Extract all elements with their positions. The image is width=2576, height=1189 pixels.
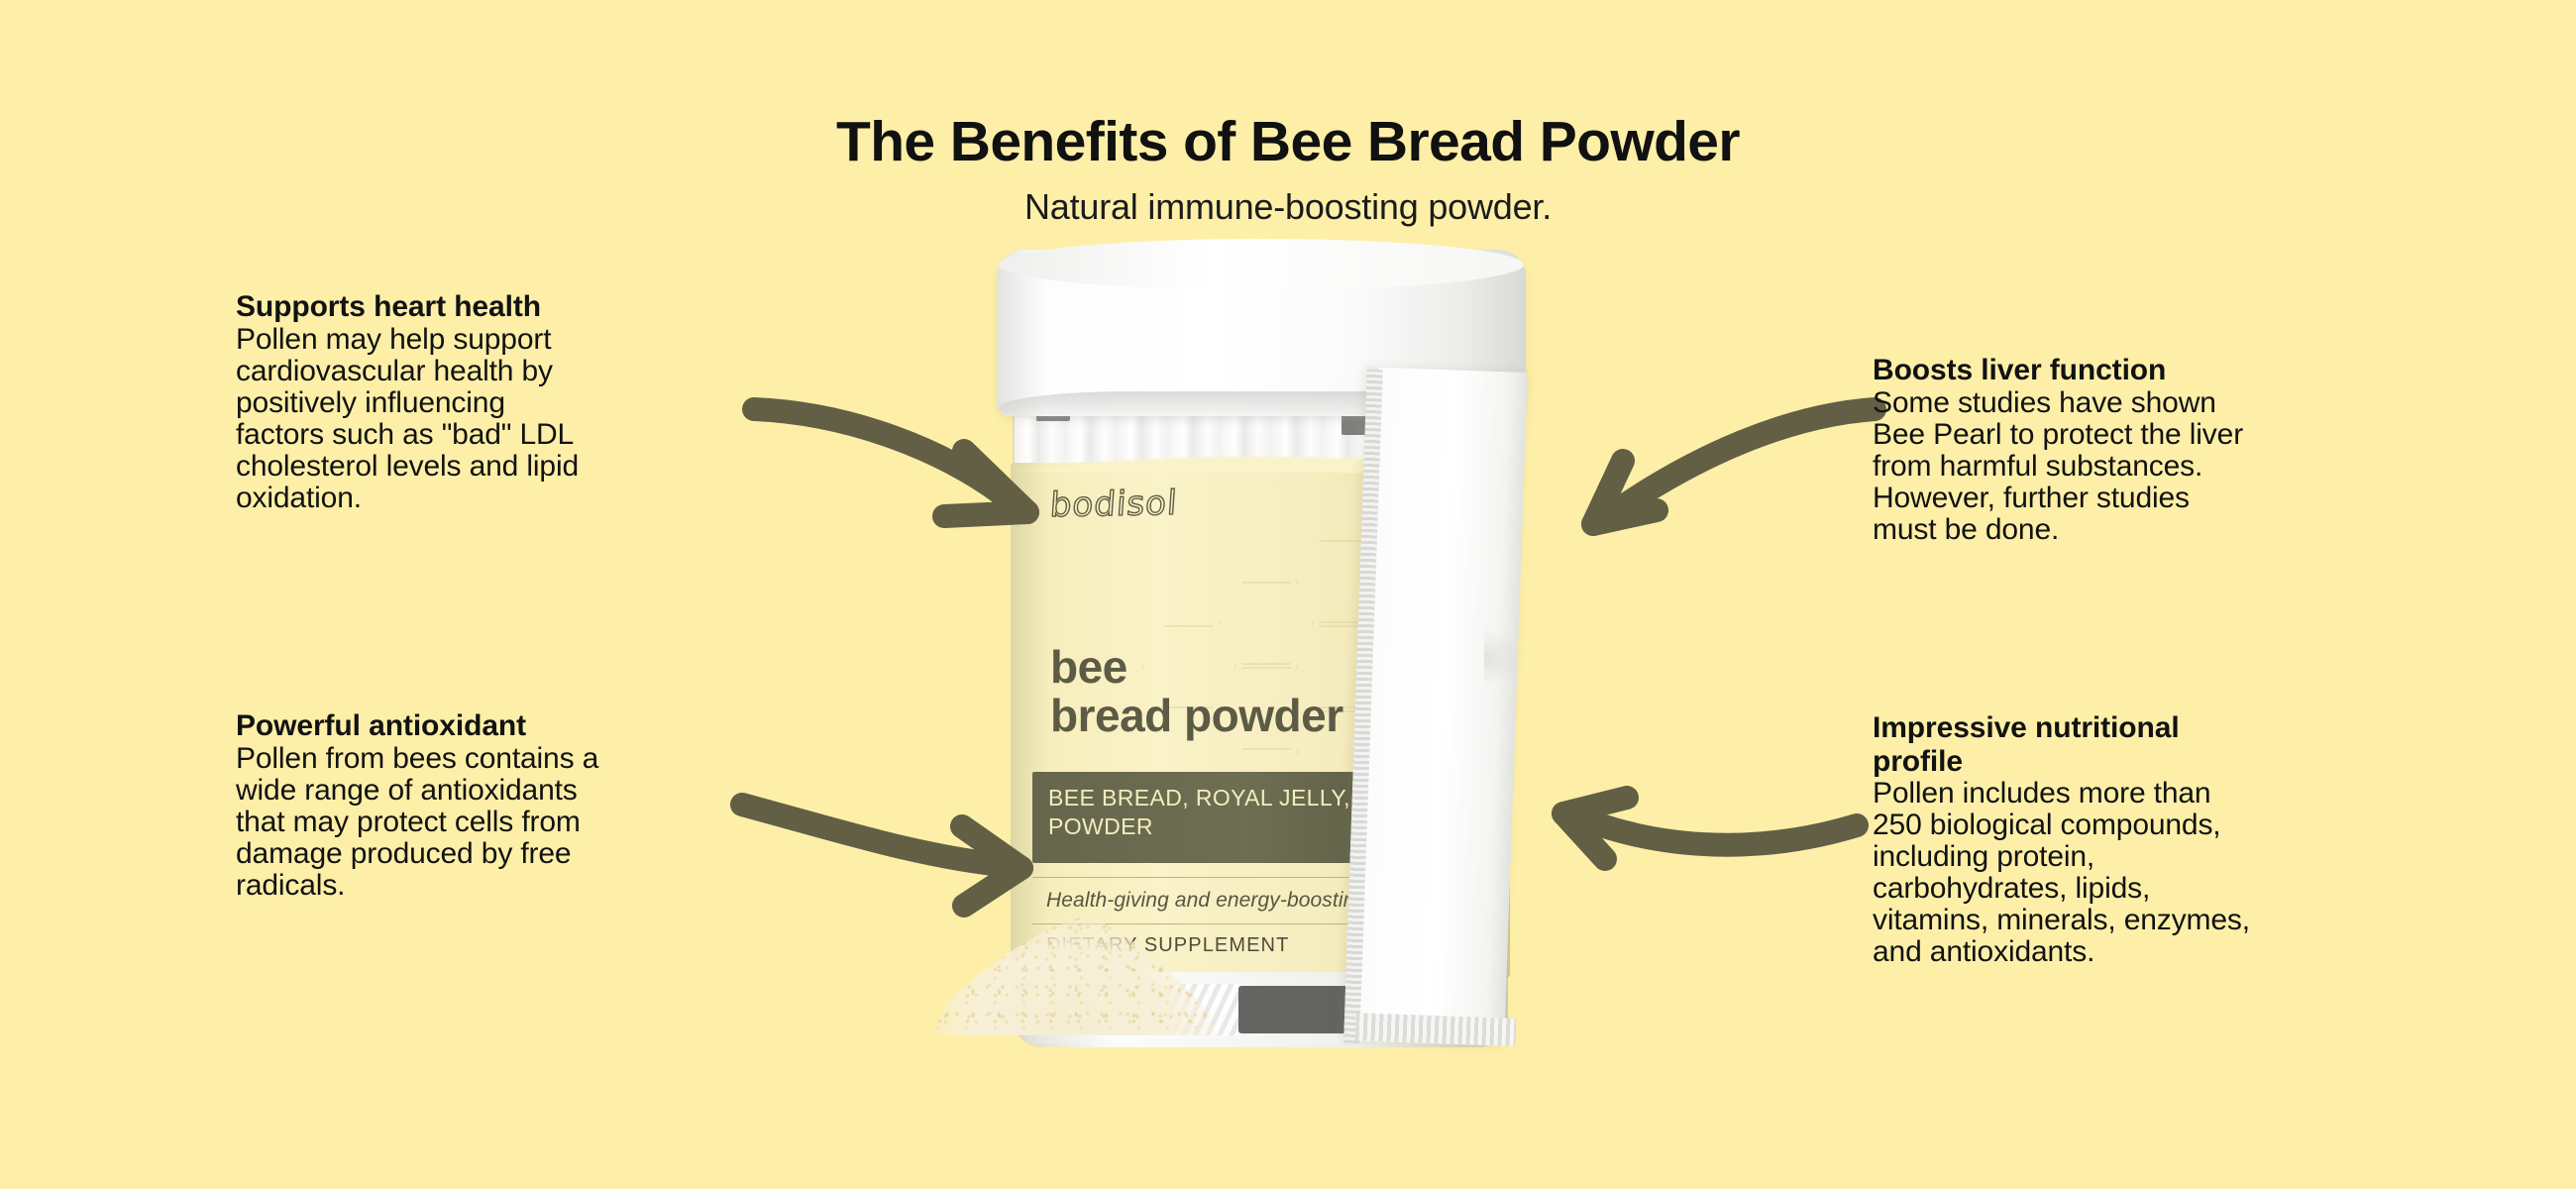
callout-body: Some studies have shown Bee Pearl to pro…	[1873, 387, 2408, 546]
callout-heading: Impressive nutritional profile	[1873, 711, 2417, 778]
callout-line: cholesterol levels and lipid	[236, 451, 761, 483]
arrow-nutritional-icon	[1536, 778, 1873, 907]
infographic-canvas: The Benefits of Bee Bread Powder Natural…	[0, 0, 2576, 1189]
callout-heading: Boosts liver function	[1873, 354, 2408, 387]
callout-line: wide range of antioxidants	[236, 775, 761, 807]
callout-line: from harmful substances.	[1873, 451, 2408, 483]
callout-line: Pollen includes more than	[1873, 778, 2417, 810]
callout-line: and antioxidants.	[1873, 936, 2417, 968]
callout-impressive-nutritional-profile: Impressive nutritional profile Pollen in…	[1873, 711, 2417, 968]
sachet-notch	[1484, 629, 1524, 687]
callout-line: damage produced by free	[236, 838, 761, 870]
callout-line: 250 biological compounds,	[1873, 810, 2417, 841]
arrow-heart-icon	[738, 381, 1075, 550]
callout-line: Some studies have shown	[1873, 387, 2408, 419]
page-title: The Benefits of Bee Bread Powder	[0, 109, 2576, 174]
sachet-bottom-seam	[1355, 1013, 1517, 1046]
callout-body: Pollen includes more than 250 biological…	[1873, 778, 2417, 968]
callout-supports-heart-health: Supports heart health Pollen may help su…	[236, 290, 761, 514]
callout-heading: Supports heart health	[236, 290, 761, 324]
callout-line: Pollen may help support	[236, 324, 761, 356]
callout-line: radicals.	[236, 870, 761, 902]
callout-line: vitamins, minerals, enzymes,	[1873, 905, 2417, 936]
jar-lid-top	[999, 239, 1524, 290]
callout-powerful-antioxidant: Powerful antioxidant Pollen from bees co…	[236, 709, 761, 902]
callout-boosts-liver-function: Boosts liver function Some studies have …	[1873, 354, 2408, 546]
callout-heading: Powerful antioxidant	[236, 709, 761, 743]
callout-line: oxidation.	[236, 483, 761, 514]
callout-line: Pollen from bees contains a	[236, 743, 761, 775]
product-name: bee bread powder	[1050, 643, 1343, 740]
arrow-liver-icon	[1565, 372, 1892, 540]
jar-base-dark-sachet	[1238, 986, 1347, 1033]
callout-line: that may protect cells from	[236, 807, 761, 838]
product-name-line-1: bee	[1050, 643, 1343, 692]
callout-line: Bee Pearl to protect the liver	[1873, 419, 2408, 451]
page-subtitle: Natural immune-boosting powder.	[0, 186, 2576, 228]
callout-line: However, further studies	[1873, 483, 2408, 514]
callout-body: Pollen may help support cardiovascular h…	[236, 324, 761, 514]
product-image: bodisol bee bread powder BEE BREAD, ROYA…	[941, 253, 1635, 1075]
callout-line: positively influencing	[236, 387, 761, 419]
callout-body: Pollen from bees contains a wide range o…	[236, 743, 761, 902]
callout-line: must be done.	[1873, 514, 2408, 546]
product-name-line-2: bread powder	[1050, 692, 1343, 740]
callout-line: factors such as "bad" LDL	[236, 419, 761, 451]
callout-line: cardiovascular health by	[236, 356, 761, 387]
callout-line: including protein,	[1873, 841, 2417, 873]
arrow-antioxidant-icon	[728, 783, 1055, 921]
callout-line: carbohydrates, lipids,	[1873, 873, 2417, 905]
